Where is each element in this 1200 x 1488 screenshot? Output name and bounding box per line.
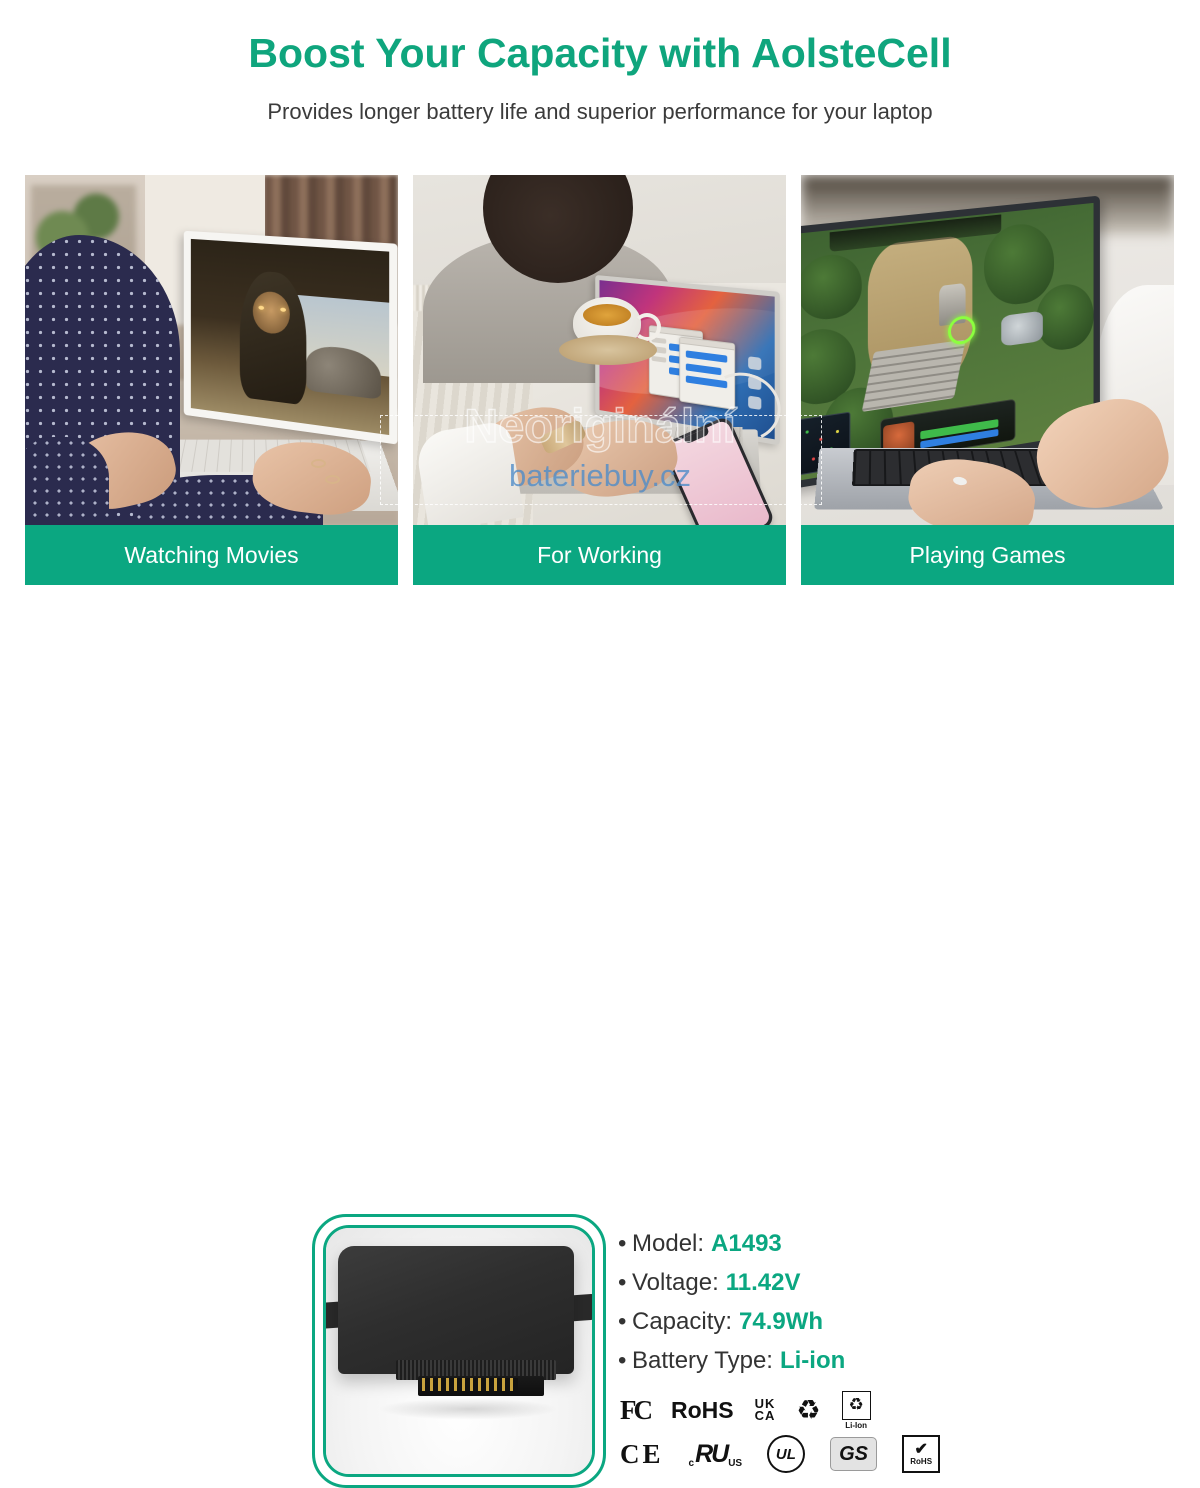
li-ion-recycle-icon: ♻ Li-Ion	[842, 1391, 871, 1430]
rohs-check-label: RoHS	[910, 1458, 932, 1466]
spec-row-model: • Model: A1493	[618, 1230, 948, 1258]
product-section: • Model: A1493 • Voltage: 11.42V • Capac…	[0, 600, 1200, 900]
ce-icon: CE	[620, 1439, 664, 1470]
spec-label: Battery Type:	[632, 1347, 773, 1375]
header: Boost Your Capacity with AolsteCell Prov…	[0, 0, 1200, 150]
li-ion-label: Li-Ion	[845, 1421, 867, 1430]
spec-label: Capacity:	[632, 1308, 732, 1336]
crus-prefix: c	[689, 1458, 695, 1469]
movie-watching-photo	[25, 175, 398, 525]
use-case-panel-playing-games: Playing Games	[801, 175, 1174, 585]
fcc-icon: FC	[620, 1395, 650, 1426]
product-infographic: Boost Your Capacity with AolsteCell Prov…	[0, 0, 1200, 900]
ukca-line2: CA	[755, 1408, 776, 1423]
use-case-panel-for-working: For Working	[413, 175, 786, 585]
gaming-photo	[801, 175, 1174, 525]
spec-label: Voltage:	[632, 1269, 719, 1297]
page-subtitle: Provides longer battery life and superio…	[0, 99, 1200, 125]
panel-caption: For Working	[413, 525, 786, 585]
page-title: Boost Your Capacity with AolsteCell	[0, 30, 1200, 77]
bullet-icon: •	[618, 1310, 632, 1334]
c-ul-us-icon: c RU US	[689, 1440, 743, 1469]
panel-caption: Watching Movies	[25, 525, 398, 585]
spec-list: • Model: A1493 • Voltage: 11.42V • Capac…	[618, 1230, 948, 1386]
spec-row-capacity: • Capacity: 74.9Wh	[618, 1308, 948, 1336]
spec-value: 74.9Wh	[739, 1308, 823, 1336]
battery-image-inner-frame	[323, 1225, 595, 1477]
rohs-check-icon: ✔ RoHS	[902, 1435, 940, 1473]
use-case-panels: Watching Movies	[25, 175, 1175, 585]
working-photo	[413, 175, 786, 525]
use-case-panel-watching-movies: Watching Movies	[25, 175, 398, 585]
spec-row-battery-type: • Battery Type: Li-ion	[618, 1347, 948, 1375]
check-icon: ✔	[914, 1442, 927, 1458]
gs-icon: GS	[830, 1437, 878, 1471]
spec-value: 11.42V	[726, 1269, 801, 1297]
spec-label: Model:	[632, 1230, 704, 1258]
bullet-icon: •	[618, 1271, 632, 1295]
panel-caption: Playing Games	[801, 525, 1174, 585]
crus-suffix: US	[728, 1458, 742, 1469]
crus-mark: RU	[695, 1440, 727, 1469]
li-ion-recycle-symbol: ♻	[842, 1391, 871, 1420]
battery-photo	[326, 1228, 592, 1474]
spec-value: A1493	[711, 1230, 782, 1258]
spec-row-voltage: • Voltage: 11.42V	[618, 1269, 948, 1297]
certification-row-2: CE c RU US UL GS ✔ RoHS	[620, 1432, 940, 1476]
recycle-icon: ♻	[796, 1395, 820, 1426]
rohs-icon: RoHS	[671, 1397, 734, 1424]
bullet-icon: •	[618, 1349, 632, 1373]
battery-image-frame	[312, 1214, 606, 1488]
bullet-icon: •	[618, 1232, 632, 1256]
ul-icon: UL	[767, 1435, 805, 1473]
spec-value: Li-ion	[780, 1347, 845, 1375]
certification-badges: FC RoHS UK CA ♻ ♻ Li-Ion CE c R	[620, 1388, 940, 1476]
ukca-icon: UK CA	[755, 1398, 776, 1422]
certification-row-1: FC RoHS UK CA ♻ ♻ Li-Ion	[620, 1388, 940, 1432]
